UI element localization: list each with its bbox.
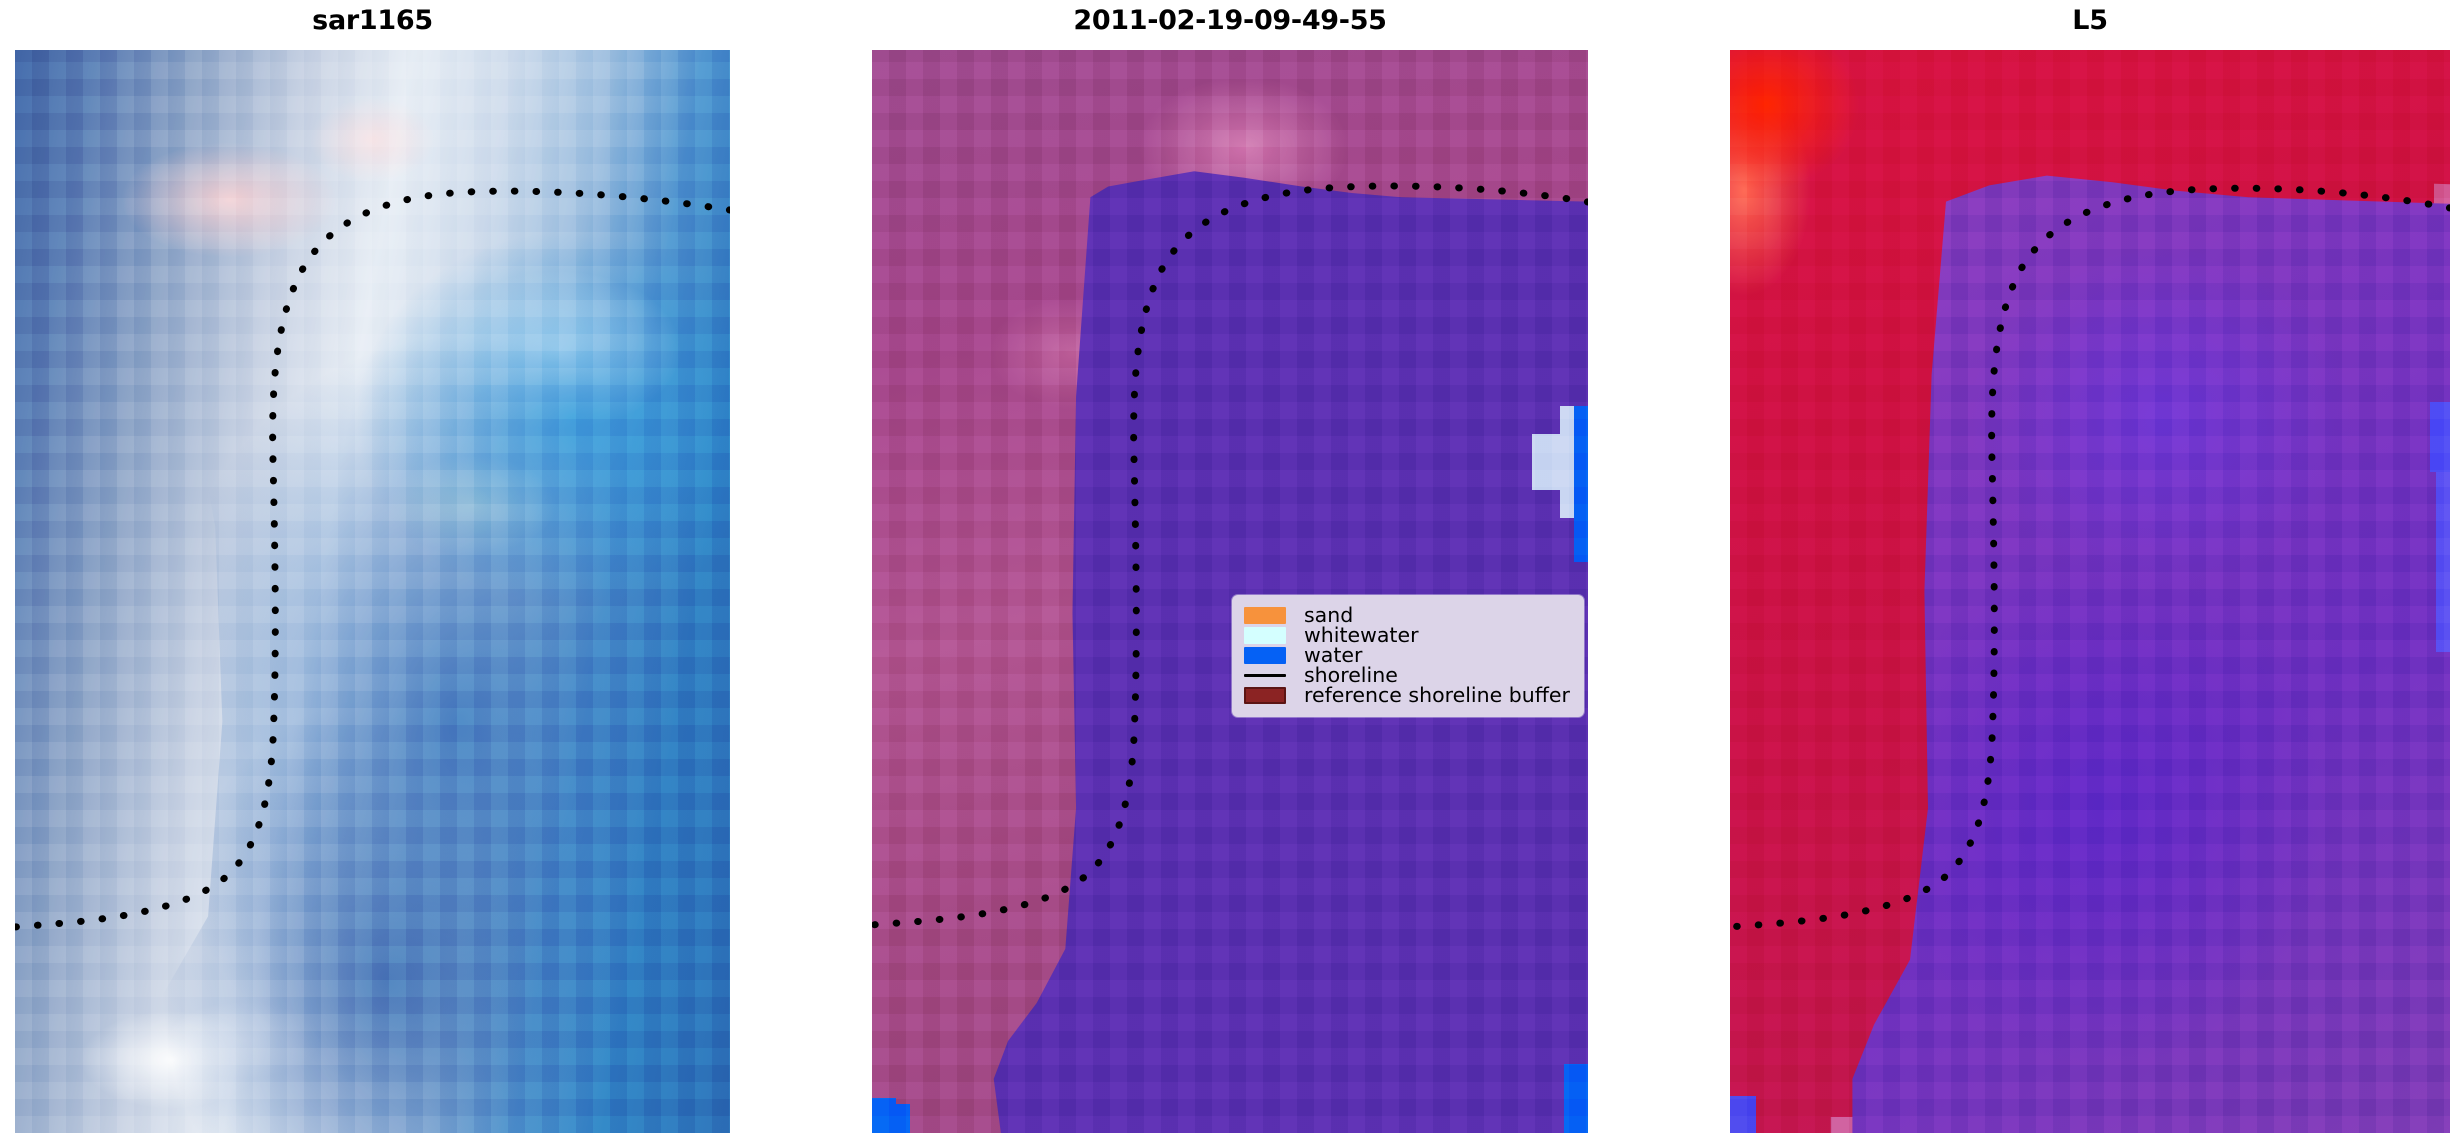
legend-swatch-shoreline bbox=[1244, 674, 1286, 677]
shoreline-overlay-1 bbox=[15, 50, 730, 1133]
classified-image bbox=[872, 50, 1588, 1133]
panel-title-3: L5 bbox=[1730, 2, 2450, 40]
panel-sar1165[interactable] bbox=[15, 50, 730, 1133]
legend-item-water: water bbox=[1244, 646, 1570, 666]
legend-item-reference-shoreline-buffer: reference shoreline buffer bbox=[1244, 686, 1570, 706]
panel-title-2: 2011-02-19-09-49-55 bbox=[872, 2, 1588, 40]
legend-item-whitewater: whitewater bbox=[1244, 626, 1570, 646]
panel-l5[interactable] bbox=[1730, 50, 2450, 1133]
legend-swatch-sand bbox=[1244, 607, 1286, 624]
legend-swatch-whitewater bbox=[1244, 627, 1286, 644]
legend-swatch-water bbox=[1244, 647, 1286, 664]
shoreline-overlay-2 bbox=[872, 50, 1588, 1133]
panel-2011-02-19-09-49-55[interactable]: sand whitewater water shoreline referenc… bbox=[872, 50, 1588, 1133]
panel-title-1: sar1165 bbox=[15, 2, 730, 40]
legend-label-reference-shoreline-buffer: reference shoreline buffer bbox=[1304, 686, 1570, 706]
legend: sand whitewater water shoreline referenc… bbox=[1232, 595, 1584, 717]
shoreline-overlay-3 bbox=[1730, 50, 2450, 1133]
sar-image bbox=[15, 50, 730, 1133]
legend-swatch-reference-shoreline-buffer bbox=[1244, 687, 1286, 704]
l5-image bbox=[1730, 50, 2450, 1133]
